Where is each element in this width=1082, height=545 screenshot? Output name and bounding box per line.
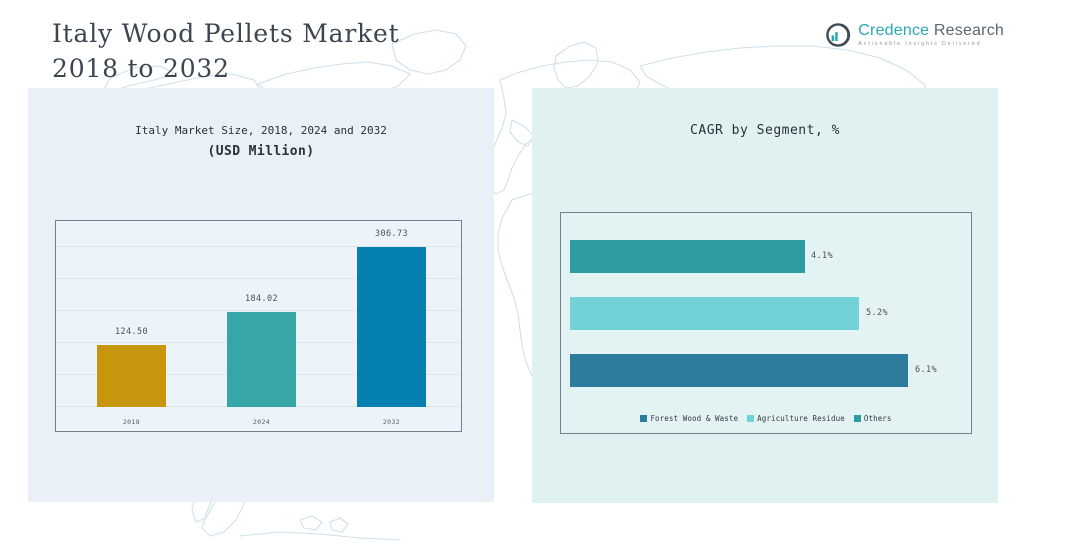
logo-tagline: Actionable Insights Delivered [858,40,1004,48]
bar-2024 [227,312,296,407]
bar-value-others: 4.1% [811,251,833,261]
logo-name-primary: Credence [858,22,929,39]
bar-value-2018: 124.50 [72,327,192,337]
logo-wordmark: Credence Research [858,22,1004,39]
market-size-plot-area: 124.50 2018 184.02 2024 306.73 2032 [55,220,462,432]
bar-group-2024: 184.02 2024 [227,243,296,407]
cagr-chart-heading: CAGR by Segment, % [532,120,998,141]
bar-category-2024: 2024 [202,418,322,426]
bar-value-2032: 306.73 [332,229,452,239]
infographic-canvas: Italy Wood Pellets Market 2018 to 2032 C… [0,0,1082,545]
market-size-subtitle-line2: (USD Million) [28,141,494,162]
bar-2032 [357,247,426,407]
bar-chart-circle-icon [825,22,851,48]
bar-category-2018: 2018 [72,418,192,426]
legend-swatch-others [854,415,861,422]
bar-group-agriculture-residue: 5.2% [570,297,964,330]
bar-group-forest-wood-waste: 6.1% [570,354,964,387]
bar-forest-wood-waste [570,354,908,387]
market-size-chart-heading: Italy Market Size, 2018, 2024 and 2032 (… [28,120,494,162]
market-size-subtitle-line1: Italy Market Size, 2018, 2024 and 2032 [28,120,494,141]
bar-value-agriculture-residue: 5.2% [866,308,888,318]
credence-research-logo: Credence Research Actionable Insights De… [825,22,1004,48]
bar-group-2032: 306.73 2032 [357,243,426,407]
bar-others [570,240,805,273]
legend-item-others[interactable]: Others [854,414,892,423]
cagr-plot-area: 4.1% 5.2% 6.1% Forest Wood & Waste Agric… [560,212,972,434]
legend-item-forest-wood-waste[interactable]: Forest Wood & Waste [640,414,738,423]
legend-swatch-forest-wood-waste [640,415,647,422]
bar-category-2032: 2032 [332,418,452,426]
cagr-legend: Forest Wood & Waste Agriculture Residue … [561,414,971,423]
legend-item-agriculture-residue[interactable]: Agriculture Residue [747,414,845,423]
legend-label-agriculture-residue: Agriculture Residue [757,414,845,423]
bar-agriculture-residue [570,297,859,330]
legend-label-forest-wood-waste: Forest Wood & Waste [650,414,738,423]
logo-name-secondary: Research [929,22,1004,39]
legend-label-others: Others [864,414,892,423]
bar-value-2024: 184.02 [202,294,322,304]
bar-group-2018: 124.50 2018 [97,243,166,407]
bar-value-forest-wood-waste: 6.1% [915,365,937,375]
bar-group-others: 4.1% [570,240,964,273]
bar-2018 [97,345,166,407]
page-title: Italy Wood Pellets Market 2018 to 2032 [52,16,572,86]
logo-text-block: Credence Research Actionable Insights De… [858,22,1004,48]
legend-swatch-agriculture-residue [747,415,754,422]
